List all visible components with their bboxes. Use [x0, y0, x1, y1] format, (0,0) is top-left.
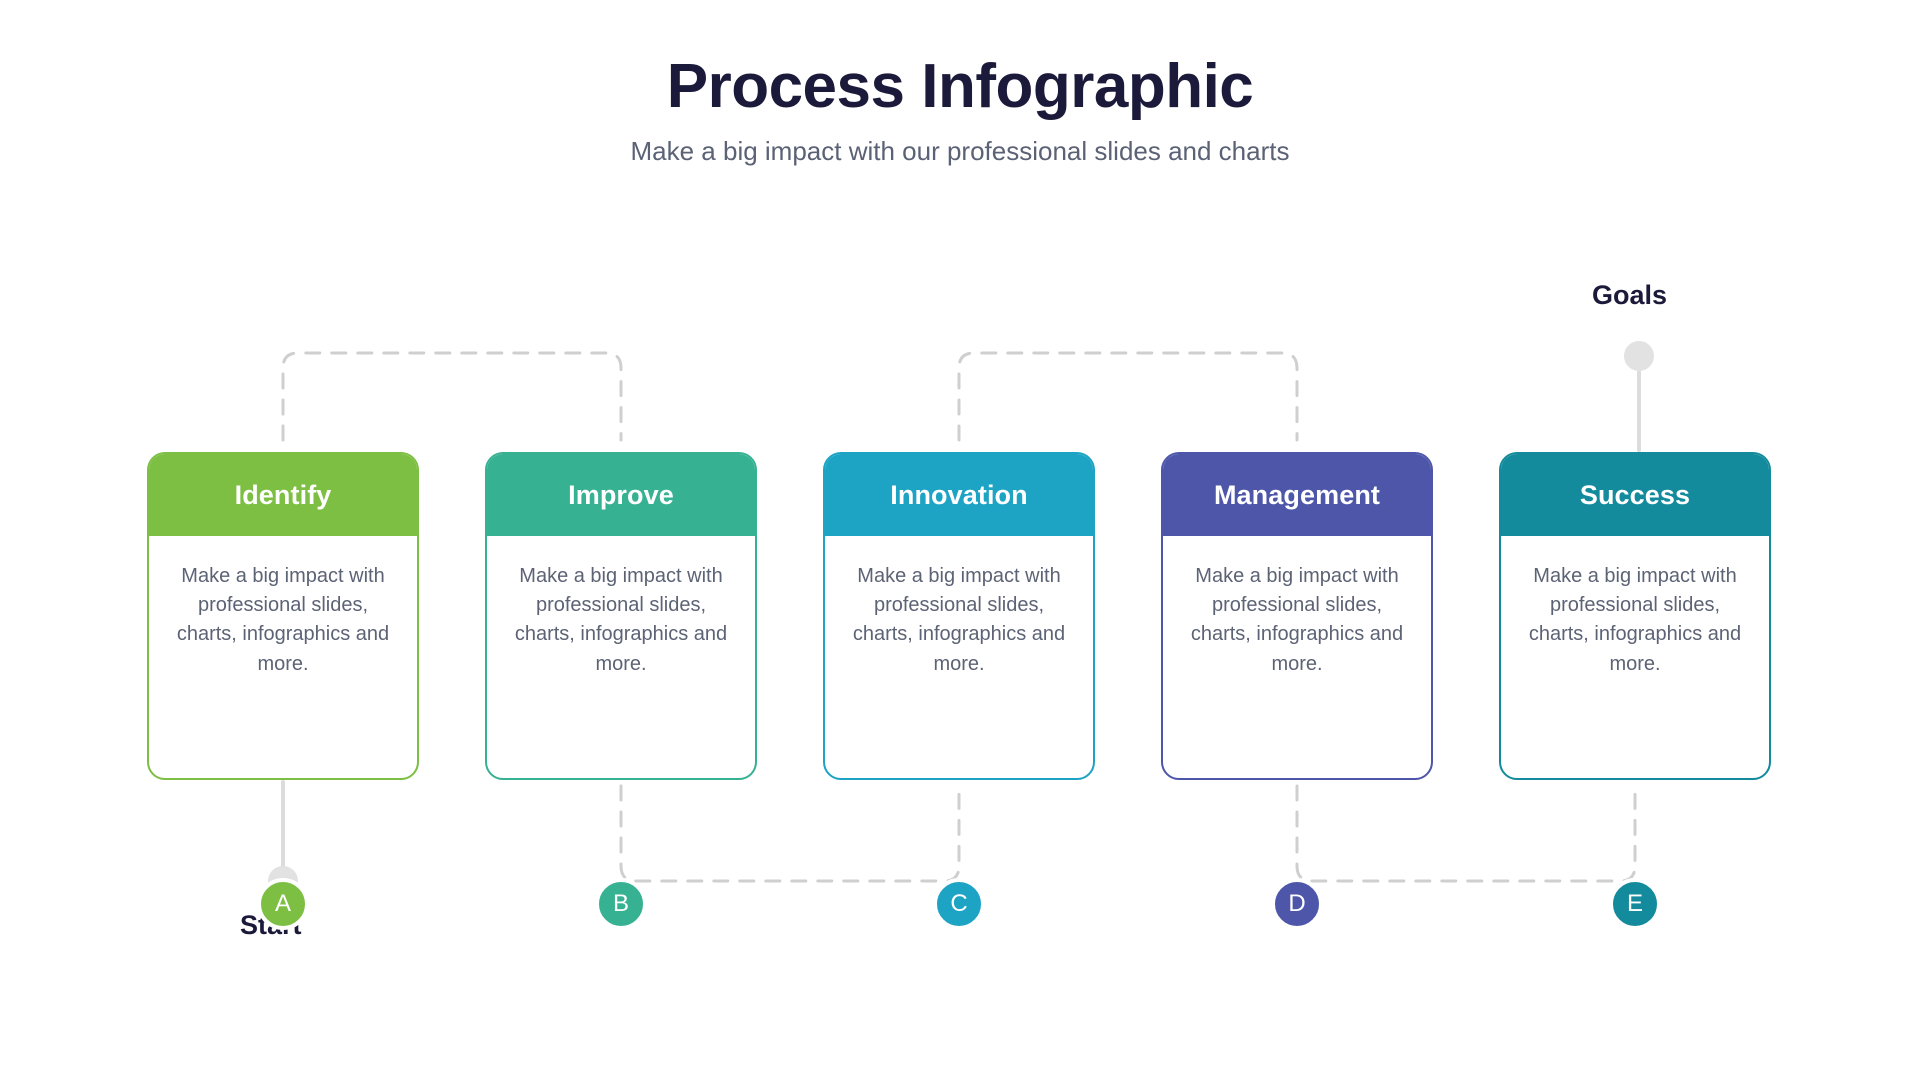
step-card-d-header: Management	[1163, 454, 1431, 536]
step-badge-b[interactable]: B	[595, 878, 647, 930]
step-badge-a-letter: A	[275, 890, 291, 918]
goals-dot	[1624, 341, 1654, 371]
connector-a-b	[283, 353, 621, 440]
step-card-e[interactable]: Success Make a big impact with professio…	[1499, 452, 1771, 780]
step-card-c-header: Innovation	[825, 454, 1093, 536]
step-card-b-header: Improve	[487, 454, 755, 536]
step-card-e-title: Success	[1574, 480, 1696, 511]
page-title: Process Infographic	[0, 52, 1920, 121]
step-card-a-header: Identify	[149, 454, 417, 536]
step-badge-d-letter: D	[1288, 890, 1305, 918]
step-card-a-title: Identify	[229, 480, 338, 511]
step-badge-e-letter: E	[1627, 890, 1643, 918]
step-card-c-text: Make a big impact with professional slid…	[849, 562, 1069, 679]
connector-c-d	[959, 353, 1297, 440]
step-card-b-text: Make a big impact with professional slid…	[511, 562, 731, 679]
goals-label: Goals	[1592, 280, 1667, 311]
step-card-c-title: Innovation	[884, 480, 1034, 511]
step-card-a-text: Make a big impact with professional slid…	[173, 562, 393, 679]
step-badge-b-letter: B	[613, 890, 629, 918]
step-card-d-body: Make a big impact with professional slid…	[1163, 536, 1431, 679]
step-badge-c[interactable]: C	[933, 878, 985, 930]
step-card-c[interactable]: Innovation Make a big impact with profes…	[823, 452, 1095, 780]
step-card-a-body: Make a big impact with professional slid…	[149, 536, 417, 679]
connector-d-e	[1297, 786, 1635, 881]
page-subtitle: Make a big impact with our professional …	[0, 135, 1920, 169]
step-badge-e[interactable]: E	[1609, 878, 1661, 930]
step-card-e-text: Make a big impact with professional slid…	[1525, 562, 1745, 679]
step-card-d[interactable]: Management Make a big impact with profes…	[1161, 452, 1433, 780]
header: Process Infographic Make a big impact wi…	[0, 52, 1920, 169]
step-card-b-body: Make a big impact with professional slid…	[487, 536, 755, 679]
step-badge-a[interactable]: A	[257, 878, 309, 930]
infographic-slide: Process Infographic Make a big impact wi…	[0, 0, 1920, 1080]
step-card-a[interactable]: Identify Make a big impact with professi…	[147, 452, 419, 780]
step-card-e-body: Make a big impact with professional slid…	[1501, 536, 1769, 679]
step-card-d-text: Make a big impact with professional slid…	[1187, 562, 1407, 679]
step-card-b[interactable]: Improve Make a big impact with professio…	[485, 452, 757, 780]
step-badge-c-letter: C	[950, 890, 967, 918]
step-card-b-title: Improve	[562, 480, 680, 511]
step-card-d-title: Management	[1208, 480, 1386, 511]
step-card-e-header: Success	[1501, 454, 1769, 536]
step-card-c-body: Make a big impact with professional slid…	[825, 536, 1093, 679]
connector-b-c	[621, 786, 959, 881]
steps-row: Identify Make a big impact with professi…	[0, 452, 1920, 782]
step-badge-d[interactable]: D	[1271, 878, 1323, 930]
